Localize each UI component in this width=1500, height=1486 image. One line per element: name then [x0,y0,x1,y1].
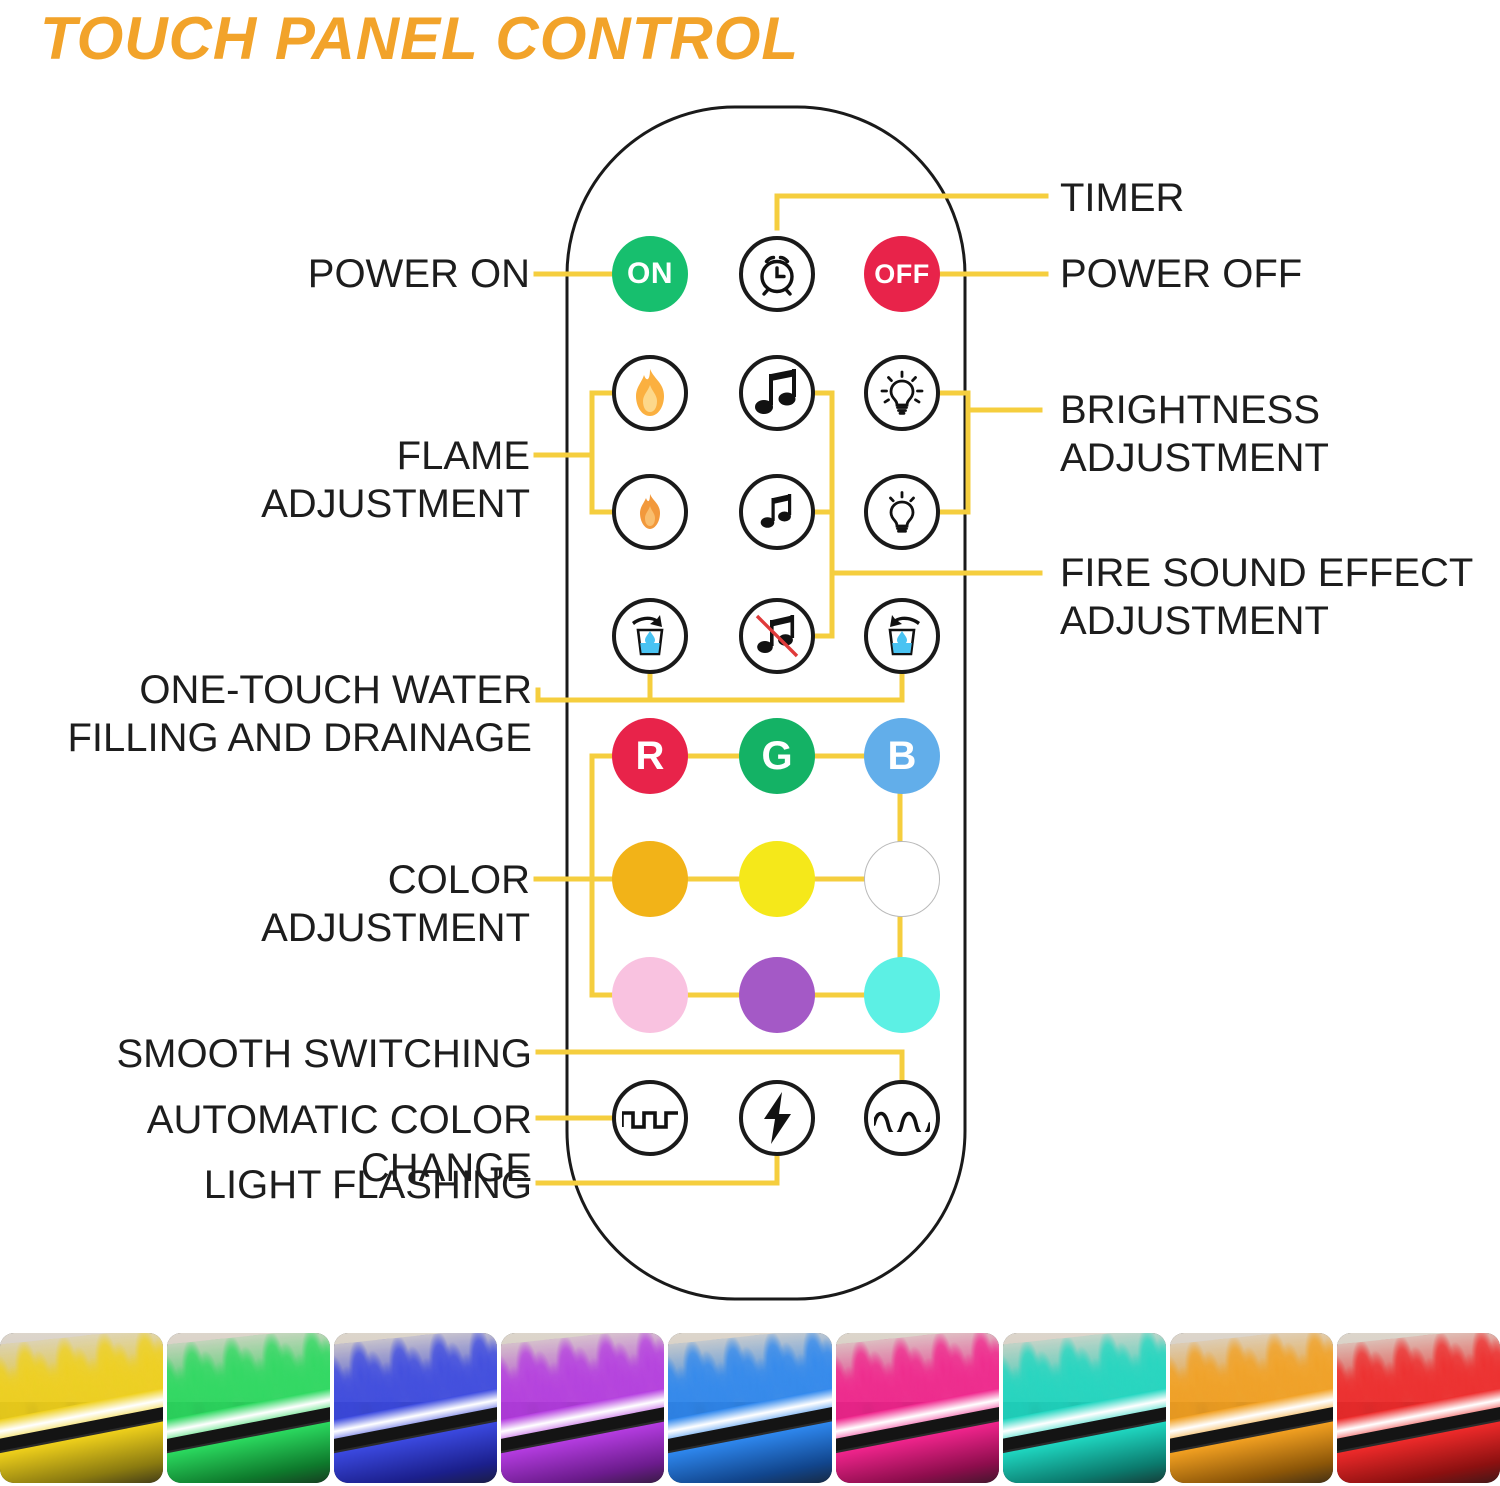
button-smooth-switching[interactable] [864,1080,940,1156]
button-color-orange[interactable] [612,841,688,917]
color-blue-label: B [888,736,917,776]
button-auto-color-change[interactable] [612,1080,688,1156]
callout-timer: TIMER [1060,174,1480,222]
callout-water: ONE-TOUCH WATER FILLING AND DRAINAGE [60,666,532,762]
alarm-clock-icon [751,248,803,300]
music-muted-icon [752,612,802,660]
product-thumbnail-strip [0,1333,1500,1483]
button-sound-up[interactable] [739,355,815,431]
button-sound-down[interactable] [739,474,815,550]
callout-brightness-adjustment: BRIGHTNESS ADJUSTMENT [1060,386,1490,482]
button-color-green[interactable]: G [739,718,815,794]
callout-flame-adjustment: FLAME ADJUSTMENT [150,432,530,528]
color-red-label: R [636,736,665,776]
thumb-yellow [0,1333,163,1483]
connector-smooth [538,1052,902,1080]
water-fill-icon [624,612,676,660]
connector-timer [777,196,1046,228]
thumb-purple [501,1333,664,1483]
connector-color-r1 [592,756,612,995]
callout-power-off: POWER OFF [1060,250,1480,298]
connector-water-stem [538,690,650,700]
button-color-yellow[interactable] [739,841,815,917]
button-brightness-down[interactable] [864,474,940,550]
thumb-blue [334,1333,497,1483]
power-off-label: OFF [874,261,930,288]
callout-smooth-switching: SMOOTH SWITCHING [60,1030,532,1078]
music-note-small-icon [760,494,794,530]
connector-sound-top [817,393,832,636]
button-flame-down[interactable] [612,474,688,550]
thumb-green [167,1333,330,1483]
button-color-cyan[interactable] [864,957,940,1033]
thumb-teal [1003,1333,1166,1483]
thumb-light-blue [668,1333,831,1483]
connector-brightness [940,393,968,512]
button-flame-up[interactable] [612,355,688,431]
square-wave-icon [622,1103,678,1133]
page-title: TOUCH PANEL CONTROL [40,4,799,73]
power-on-label: ON [627,259,673,289]
thumb-orange [1170,1333,1333,1483]
callout-power-on: POWER ON [160,250,530,298]
connector-flash [538,1156,777,1183]
flame-small-icon [635,493,665,531]
thumb-red [1337,1333,1500,1483]
button-water-fill[interactable] [612,598,688,674]
button-sound-mute[interactable] [739,598,815,674]
flame-large-icon [629,368,671,418]
button-color-blue[interactable]: B [864,718,940,794]
lightning-bolt-icon [760,1092,794,1144]
button-color-red[interactable]: R [612,718,688,794]
sine-wave-icon [874,1104,930,1132]
button-water-drain[interactable] [864,598,940,674]
bulb-dim-icon [876,486,928,538]
color-green-label: G [761,736,792,776]
callout-light-flashing: LIGHT FLASHING [60,1161,532,1209]
button-color-purple[interactable] [739,957,815,1033]
button-light-flashing[interactable] [739,1080,815,1156]
bulb-bright-icon [876,367,928,419]
thumb-pink [836,1333,999,1483]
music-note-large-icon [754,369,800,417]
button-timer[interactable] [739,236,815,312]
callout-color-adjustment: COLOR ADJUSTMENT [150,856,530,952]
button-color-white[interactable] [864,841,940,917]
button-brightness-up[interactable] [864,355,940,431]
button-color-pink[interactable] [612,957,688,1033]
button-power-on[interactable]: ON [612,236,688,312]
connector-flame [592,393,612,512]
callout-fire-sound-effect: FIRE SOUND EFFECT ADJUSTMENT [1060,549,1500,645]
connector-water [650,670,902,700]
water-drain-icon [876,612,928,660]
button-power-off[interactable]: OFF [864,236,940,312]
